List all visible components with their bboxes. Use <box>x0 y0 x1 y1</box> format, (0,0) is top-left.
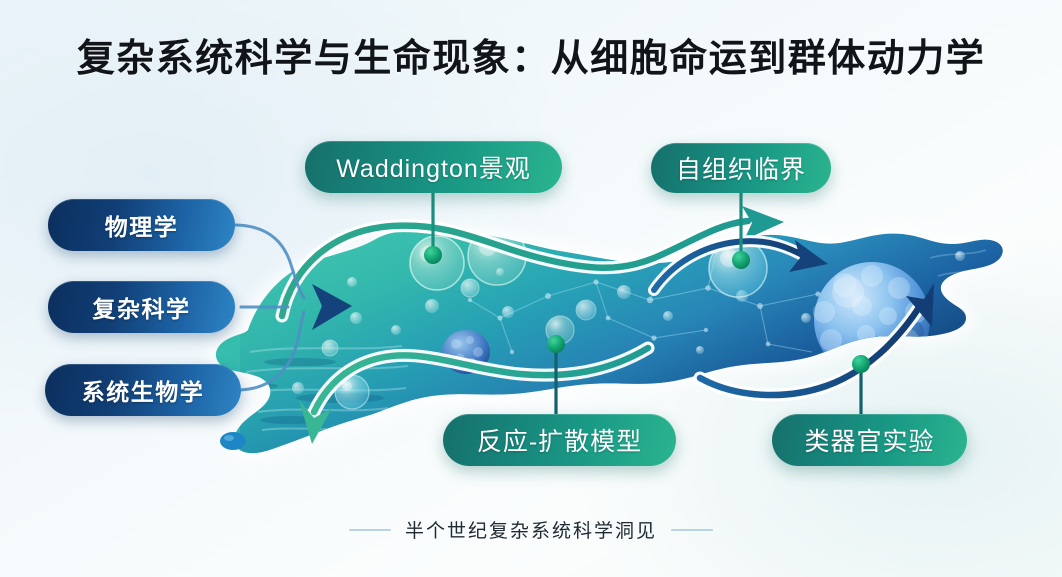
footer-rule-right <box>671 529 713 531</box>
pill-label-systems-biology: 系统生物学 <box>82 373 205 407</box>
concept-label-reaction-diffusion: 反应-扩散模型 <box>477 422 642 458</box>
pill-label-complex-science: 复杂科学 <box>93 290 191 324</box>
page-title: 复杂系统科学与生命现象：从细胞命运到群体动力学 <box>77 38 986 82</box>
sidebar-item-physics[interactable]: 物理学 <box>48 199 235 251</box>
detached-droplet <box>220 432 246 450</box>
concept-label-self-organized-criticality: 自组织临界 <box>676 150 806 186</box>
concept-pill-waddington[interactable]: Waddington景观 <box>305 141 562 193</box>
concept-pill-organoid[interactable]: 类器官实验 <box>772 414 967 466</box>
concept-label-waddington: Waddington景观 <box>336 149 531 185</box>
footer-caption-bar: 半个世纪复杂系统科学洞见 <box>0 516 1062 543</box>
concept-pill-reaction-diffusion[interactable]: 反应-扩散模型 <box>443 414 676 466</box>
sidebar-item-systems-biology[interactable]: 系统生物学 <box>45 364 241 416</box>
concept-label-organoid: 类器官实验 <box>804 422 934 458</box>
footer-caption: 半个世纪复杂系统科学洞见 <box>405 516 657 543</box>
page-title-bar: 复杂系统科学与生命现象：从细胞命运到群体动力学 <box>0 38 1062 82</box>
concept-pill-self-organized-criticality[interactable]: 自组织临界 <box>651 143 831 193</box>
footer-rule-left <box>349 529 391 531</box>
illustration-stage: 物理学 复杂科学 系统生物学 Waddington景观 自组织临界 反应-扩散模… <box>0 0 1062 577</box>
connector-organoid <box>852 355 870 414</box>
connector-self-organized-criticality <box>732 193 750 269</box>
pill-label-physics: 物理学 <box>105 208 179 242</box>
sidebar-item-complex-science[interactable]: 复杂科学 <box>48 281 235 333</box>
